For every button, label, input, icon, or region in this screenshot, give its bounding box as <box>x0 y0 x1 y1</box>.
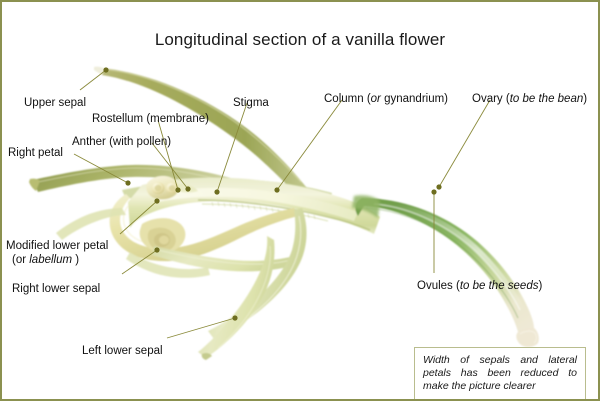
label-right-petal: Right petal <box>8 146 63 160</box>
leader-column <box>277 100 342 190</box>
leader-stigma <box>217 103 247 192</box>
leader-anther <box>152 143 188 189</box>
marker-ovules <box>431 189 436 194</box>
marker-right-petal <box>125 180 130 185</box>
label-left-lower-sepal: Left lower sepal <box>82 344 163 358</box>
marker-ovary <box>436 184 441 189</box>
marker-modified-lower-petal <box>154 198 159 203</box>
label-ovules-text: Ovules ( <box>417 280 460 292</box>
label-column-tail: gynandrium) <box>381 93 448 105</box>
marker-anther <box>185 186 190 191</box>
label-ovary-tail: ) <box>583 93 587 105</box>
label-ovules-tail: ) <box>538 280 542 292</box>
leader-upper-sepal <box>80 70 106 90</box>
marker-column <box>274 187 279 192</box>
label-column: Column (or gynandrium) <box>324 92 448 106</box>
label-ovary-italic: to be the bean <box>510 93 584 105</box>
label-right-lower-sepal: Right lower sepal <box>12 282 100 296</box>
note-box: Width of sepals and lateral petals has b… <box>414 347 586 401</box>
leader-left-lower-sepal <box>167 318 235 338</box>
leader-right-petal <box>74 154 128 183</box>
label-stigma: Stigma <box>233 96 269 110</box>
marker-right-lower-sepal <box>154 247 159 252</box>
leader-lines <box>2 2 600 401</box>
leader-ovary <box>439 100 490 187</box>
label-column-italic: or <box>371 93 381 105</box>
label-upper-sepal: Upper sepal <box>24 96 86 110</box>
label-ovary: Ovary (to be the bean) <box>472 92 587 106</box>
marker-left-lower-sepal <box>232 315 237 320</box>
marker-rostellum <box>175 187 180 192</box>
label-rostellum: Rostellum (membrane) <box>92 112 209 126</box>
label-labellum-tail: ) <box>72 254 79 266</box>
leader-right-lower-sepal <box>122 250 157 274</box>
marker-stigma <box>214 189 219 194</box>
diagram-page: Longitudinal section of a vanilla flower <box>0 0 600 401</box>
label-labellum: (or labellum ) <box>12 253 79 267</box>
label-anther: Anther (with pollen) <box>72 135 171 149</box>
marker-upper-sepal <box>103 67 108 72</box>
label-ovules-italic: to be the seeds <box>460 280 539 292</box>
label-modified-lower-petal: Modified lower petal <box>6 239 108 253</box>
label-ovary-text: Ovary ( <box>472 93 510 105</box>
label-labellum-text: (or <box>12 254 29 266</box>
label-ovules: Ovules (to be the seeds) <box>417 279 542 293</box>
label-labellum-italic: labellum <box>29 254 72 266</box>
label-column-text: Column ( <box>324 93 371 105</box>
leader-modified-lower-petal <box>120 201 157 234</box>
